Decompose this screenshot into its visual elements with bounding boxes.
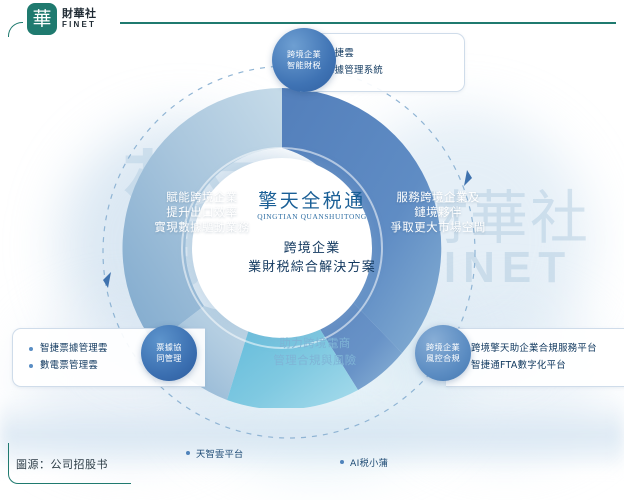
- brand-logo[interactable]: 華 財華社 FINET: [28, 4, 97, 34]
- list-item[interactable]: 智捷通FTA數字化平台: [460, 360, 624, 372]
- brand-name-cn: 財華社: [62, 9, 97, 20]
- finet-seal-icon: 華: [28, 4, 56, 34]
- infographic-canvas: 擎 財華社 FINET: [0, 0, 624, 500]
- list-item[interactable]: 跨境擎天助企業合規服務平台: [460, 343, 624, 355]
- node-bl-line2: 同管理: [156, 353, 181, 364]
- center-subtitle: 跨境企業 業財税綜合解決方案: [232, 239, 392, 277]
- callout-right-item-1: 智捷通FTA數字化平台: [471, 360, 566, 372]
- node-br-line2: 風控合規: [426, 353, 460, 364]
- node-top-smart-tax[interactable]: 跨境企業 智能財税: [272, 28, 336, 92]
- callout-left-item-1: 數電票管理雲: [40, 360, 98, 372]
- node-bl-line1: 票據協: [156, 342, 181, 353]
- center-subtitle-line1: 跨境企業: [232, 239, 392, 258]
- center-label-group: 擎天全税通 QINGTIAN QUANSHUITONG 跨境企業 業財税綜合解決…: [232, 190, 392, 277]
- source-caption: 圖源：公司招股书: [16, 456, 108, 472]
- center-pinyin: QINGTIAN QUANSHUITONG: [232, 212, 392, 222]
- callout-bottom-right: 跨境擎天助企業合規服務平台 智捷通FTA數字化平台: [446, 328, 624, 387]
- tag-tianzhi-cloud[interactable]: 天智雲平台: [186, 446, 243, 460]
- center-subtitle-line2: 業財税綜合解決方案: [232, 258, 392, 277]
- frame-corner-top-left: [8, 22, 23, 37]
- node-top-line2: 智能財税: [287, 60, 321, 71]
- brand-logo-text: 財華社 FINET: [62, 9, 97, 29]
- callout-right-item-0: 跨境擎天助企業合規服務平台: [471, 343, 597, 355]
- brand-name-en: FINET: [62, 20, 97, 29]
- bullet-dot-icon: [29, 347, 33, 351]
- node-bottom-left-invoice[interactable]: 票據協 同管理: [141, 325, 197, 381]
- node-top-line1: 跨境企業: [287, 49, 321, 60]
- tag-ai-tax-assistant[interactable]: AI税小蒲: [340, 455, 388, 469]
- callout-left-item-0: 智捷票據管理雲: [40, 343, 108, 355]
- ring-bottom-line1: 助力跨境電商: [258, 335, 372, 352]
- node-br-line1: 跨境企業: [426, 342, 460, 353]
- bullet-dot-icon: [186, 451, 190, 455]
- tag-label-0: 天智雲平台: [196, 446, 243, 460]
- frame-line-top: [120, 22, 616, 24]
- bullet-dot-icon: [340, 460, 344, 464]
- tag-label-1: AI税小蒲: [350, 455, 388, 469]
- ring-text-bottom: 助力跨境電商 管理合規與風險: [258, 335, 372, 369]
- ring-bottom-line2: 管理合規與風險: [258, 352, 372, 369]
- center-title: 擎天全税通: [232, 190, 392, 212]
- bullet-dot-icon: [29, 364, 33, 368]
- node-bottom-right-risk[interactable]: 跨境企業 風控合規: [415, 325, 471, 381]
